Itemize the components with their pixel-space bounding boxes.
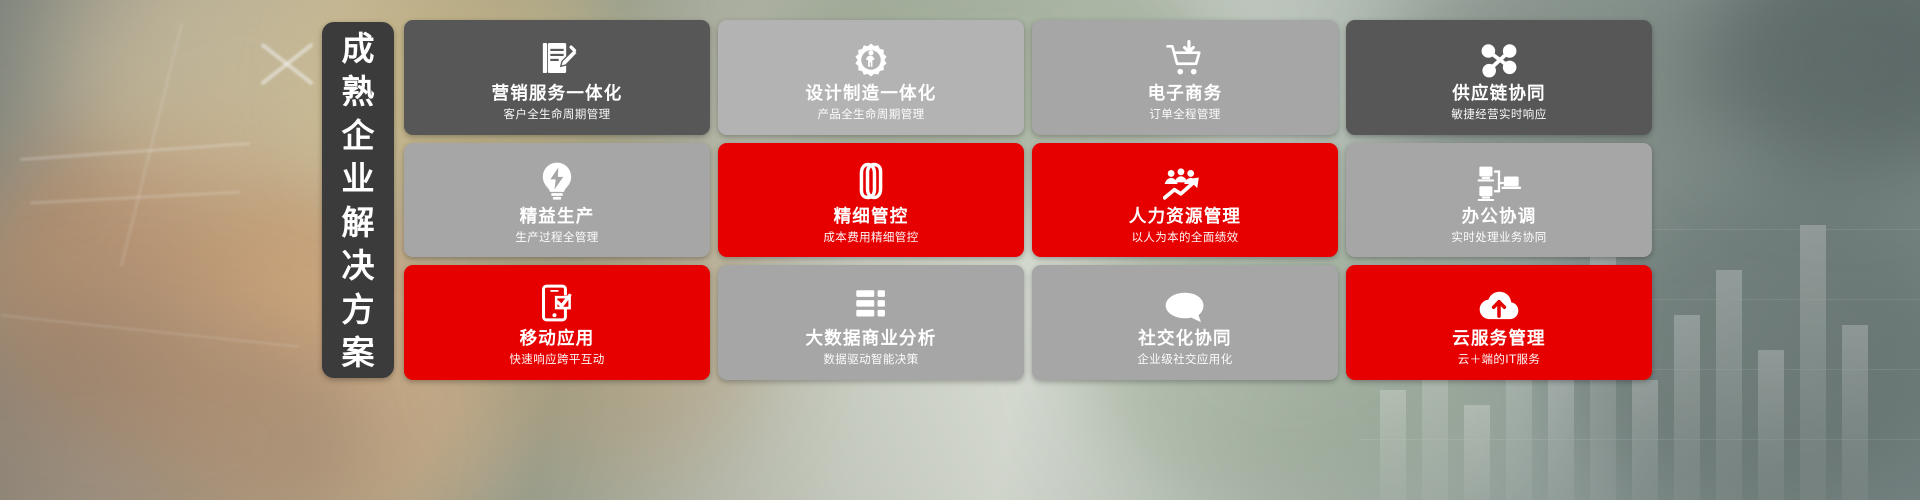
solution-card-mobile-app[interactable]: 移动应用 快速响应跨平互动 xyxy=(404,265,710,380)
card-title: 云服务管理 xyxy=(1452,330,1546,349)
solution-card-ecommerce[interactable]: 电子商务 订单全程管理 xyxy=(1032,20,1338,135)
card-title: 大数据商业分析 xyxy=(806,330,937,349)
vertical-title-char: 方 xyxy=(342,293,375,327)
solution-card-marketing-service[interactable]: 营销服务一体化 客户全生命周期管理 xyxy=(404,20,710,135)
card-subtitle: 快速响应跨平互动 xyxy=(509,353,604,366)
share-nodes-icon xyxy=(1479,34,1519,78)
solution-card-grid: 营销服务一体化 客户全生命周期管理 设计制造一体化 产品全生命周期管理 xyxy=(404,20,1652,380)
vertical-title-char: 业 xyxy=(342,162,375,196)
card-subtitle: 产品全生命周期管理 xyxy=(817,108,924,121)
cloud-upload-icon xyxy=(1478,279,1520,323)
notebook-pen-icon xyxy=(537,34,577,78)
people-growth-arrow-icon xyxy=(1163,157,1207,201)
networked-computers-icon xyxy=(1476,157,1522,201)
database-stack-icon xyxy=(853,279,889,323)
card-title: 精益生产 xyxy=(520,208,595,227)
card-title: 办公协调 xyxy=(1462,208,1537,227)
card-subtitle: 生产过程全管理 xyxy=(515,231,598,244)
solution-card-lean-production[interactable]: 精益生产 生产过程全管理 xyxy=(404,143,710,258)
vertical-title-char: 案 xyxy=(342,336,375,370)
lightbulb-bolt-icon xyxy=(540,157,574,201)
card-subtitle: 订单全程管理 xyxy=(1149,108,1220,121)
card-title: 移动应用 xyxy=(520,330,595,349)
card-subtitle: 数据驱动智能决策 xyxy=(823,353,918,366)
solution-card-hr-management[interactable]: 人力资源管理 以人为本的全面绩效 xyxy=(1032,143,1338,258)
vertical-title-char: 解 xyxy=(342,206,375,240)
card-title: 社交化协同 xyxy=(1138,330,1232,349)
solution-card-design-manufacturing[interactable]: 设计制造一体化 产品全生命周期管理 xyxy=(718,20,1024,135)
card-subtitle: 以人为本的全面绩效 xyxy=(1131,231,1238,244)
gear-person-icon xyxy=(853,34,889,78)
vertical-title-char: 熟 xyxy=(342,75,375,109)
solution-card-big-data-analytics[interactable]: 大数据商业分析 数据驱动智能决策 xyxy=(718,265,1024,380)
card-title: 精细管控 xyxy=(834,208,909,227)
solution-banner: 成 熟 企 业 解 决 方 案 营销服务一体化 客户全生命周期管理 xyxy=(0,0,1920,500)
card-title: 电子商务 xyxy=(1148,85,1223,104)
solution-card-social-collaboration[interactable]: 社交化协同 企业级社交应用化 xyxy=(1032,265,1338,380)
card-subtitle: 敏捷经营实时响应 xyxy=(1451,108,1546,121)
vertical-title-char: 成 xyxy=(342,32,375,66)
card-title: 营销服务一体化 xyxy=(492,85,623,104)
card-title: 设计制造一体化 xyxy=(806,85,937,104)
mobile-phone-check-icon xyxy=(541,279,573,323)
card-subtitle: 成本费用精细管控 xyxy=(823,231,918,244)
card-title: 人力资源管理 xyxy=(1129,208,1241,227)
card-subtitle: 客户全生命周期管理 xyxy=(503,108,610,121)
vertical-title-char: 企 xyxy=(342,119,375,153)
vertical-title: 成 熟 企 业 解 决 方 案 xyxy=(322,22,394,378)
solution-card-office-coordination[interactable]: 办公协调 实时处理业务协同 xyxy=(1346,143,1652,258)
shopping-cart-download-icon xyxy=(1164,34,1206,78)
solution-card-cloud-service[interactable]: 云服务管理 云＋端的IT服务 xyxy=(1346,265,1652,380)
card-subtitle: 实时处理业务协同 xyxy=(1451,231,1546,244)
solution-card-supply-chain[interactable]: 供应链协同 敏捷经营实时响应 xyxy=(1346,20,1652,135)
paperclip-link-icon xyxy=(855,157,887,201)
chat-bubble-icon xyxy=(1164,279,1206,323)
card-title: 供应链协同 xyxy=(1452,85,1546,104)
vertical-title-char: 决 xyxy=(342,249,375,283)
card-subtitle: 云＋端的IT服务 xyxy=(1458,353,1541,366)
card-subtitle: 企业级社交应用化 xyxy=(1137,353,1232,366)
solution-card-fine-control[interactable]: 精细管控 成本费用精细管控 xyxy=(718,143,1024,258)
